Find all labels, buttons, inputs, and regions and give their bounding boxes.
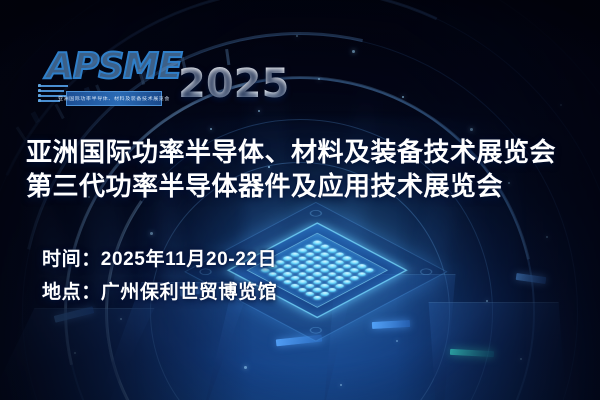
event-venue: 地点：广州保利世贸博览馆 — [42, 277, 277, 310]
event-date: 时间：2025年11月20-22日 — [42, 244, 277, 277]
logo-year: 2025 — [178, 64, 289, 106]
title-block: 亚洲国际功率半导体、材料及装备技术展览会 第三代功率半导体器件及应用技术展览会 — [26, 136, 556, 204]
title-line-secondary: 第三代功率半导体器件及应用技术展览会 — [26, 170, 556, 204]
banner-content: APSME 亚洲国际功率半导体、材料及装备技术展览会 2025 亚洲国际功率半导… — [0, 0, 600, 400]
logo-row: APSME 亚洲国际功率半导体、材料及装备技术展览会 2025 — [38, 48, 289, 106]
exhibition-banner: APSME 亚洲国际功率半导体、材料及装备技术展览会 2025 亚洲国际功率半导… — [0, 0, 600, 400]
logo-wordmark: APSME — [46, 46, 182, 87]
info-block: 时间：2025年11月20-22日 地点：广州保利世贸博览馆 — [42, 244, 277, 309]
logo-subtitle-text: 亚洲国际功率半导体、材料及装备技术展览会 — [58, 95, 170, 101]
title-line-primary: 亚洲国际功率半导体、材料及装备技术展览会 — [26, 136, 556, 170]
logo-subtitle-bar: 亚洲国际功率半导体、材料及装备技术展览会 — [66, 91, 162, 106]
apsme-logo: APSME 亚洲国际功率半导体、材料及装备技术展览会 — [38, 48, 164, 106]
